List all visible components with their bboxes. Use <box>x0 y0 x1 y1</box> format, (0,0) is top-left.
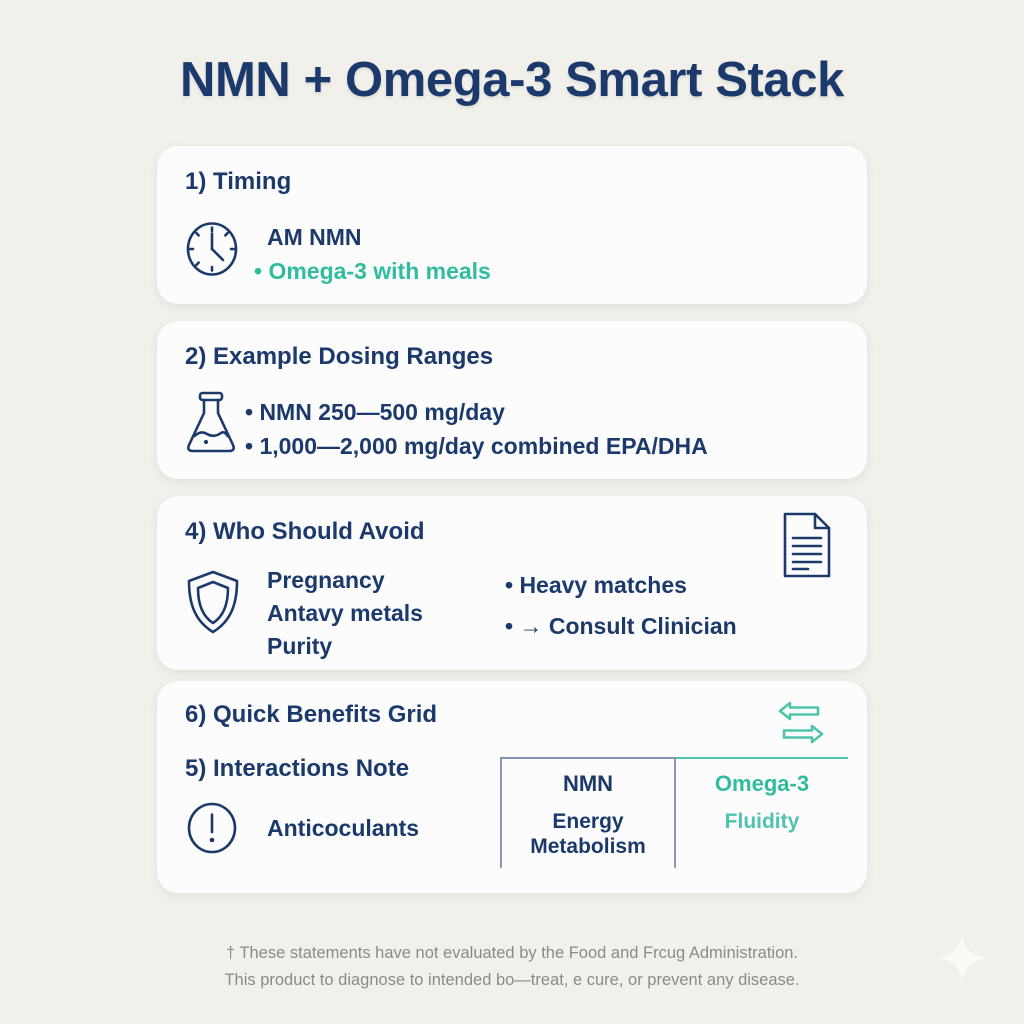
avoid-right-item-2: • → Consult Clinician <box>505 613 737 640</box>
card-who-should-avoid: 4) Who Should Avoid Pregnancy Antavy met… <box>157 496 867 670</box>
card-timing-title: 1) Timing <box>185 168 291 196</box>
card-benefits-title: 6) Quick Benefits Grid <box>185 701 437 729</box>
exchange-arrows-icon <box>774 699 828 747</box>
card-avoid-title: 4) Who Should Avoid <box>185 518 425 546</box>
card-timing: 1) Timing AM NMN • Omega-3 with meals <box>157 146 867 304</box>
card-dosing-title: 2) Example Dosing Ranges <box>185 343 493 371</box>
timing-line-2: • Omega-3 with meals <box>254 258 491 285</box>
card-interactions-subtitle: 5) Interactions Note <box>185 755 409 783</box>
clock-icon <box>183 220 241 278</box>
benefits-grid-nmn-head: NMN <box>502 772 674 796</box>
exclamation-circle-icon <box>185 801 239 855</box>
benefits-grid-omega-sub: Fluidity <box>676 810 848 835</box>
benefits-grid-nmn-sub: Energy Metabolism <box>502 810 674 860</box>
timing-line-1: AM NMN <box>267 224 362 251</box>
avoid-left-item-1: Pregnancy <box>267 567 385 594</box>
dosing-line-2: • 1,000—2,000 mg/day combined EPA/DHA <box>245 433 708 460</box>
benefits-grid: NMN Energy Metabolism Omega-3 Fluidity <box>500 757 848 869</box>
interactions-note-text: Anticoculants <box>267 815 419 842</box>
footer-disclaimer: † These statements have not evaluated by… <box>0 940 1024 994</box>
benefits-grid-omega-head: Omega-3 <box>676 772 848 796</box>
card-quick-benefits-grid: 6) Quick Benefits Grid 5) Interactions N… <box>157 681 867 893</box>
page-title: NMN + Omega-3 Smart Stack <box>0 52 1024 108</box>
card-dosing: 2) Example Dosing Ranges • NMN 250—500 m… <box>157 321 867 479</box>
flask-icon <box>181 389 241 457</box>
footer-line-2: This product to diagnose to intended bo—… <box>0 967 1024 994</box>
benefits-grid-cell-nmn: NMN Energy Metabolism <box>500 757 676 869</box>
dosing-line-1: • NMN 250—500 mg/day <box>245 399 505 426</box>
avoid-left-item-3: Purity <box>267 633 332 660</box>
document-icon <box>777 510 837 580</box>
shield-icon <box>183 568 243 636</box>
benefits-grid-cell-omega3: Omega-3 Fluidity <box>676 757 848 869</box>
benefits-grid-nmn-sub-line2: Metabolism <box>502 835 674 860</box>
footer-line-1: † These statements have not evaluated by… <box>0 940 1024 967</box>
infographic-page: NMN + Omega-3 Smart Stack 1) Timing AM N… <box>0 0 1024 1024</box>
benefits-grid-nmn-sub-line1: Energy <box>502 810 674 835</box>
avoid-left-item-2: Antavy metals <box>267 600 423 627</box>
avoid-right-item-1: • Heavy matches <box>505 572 687 599</box>
